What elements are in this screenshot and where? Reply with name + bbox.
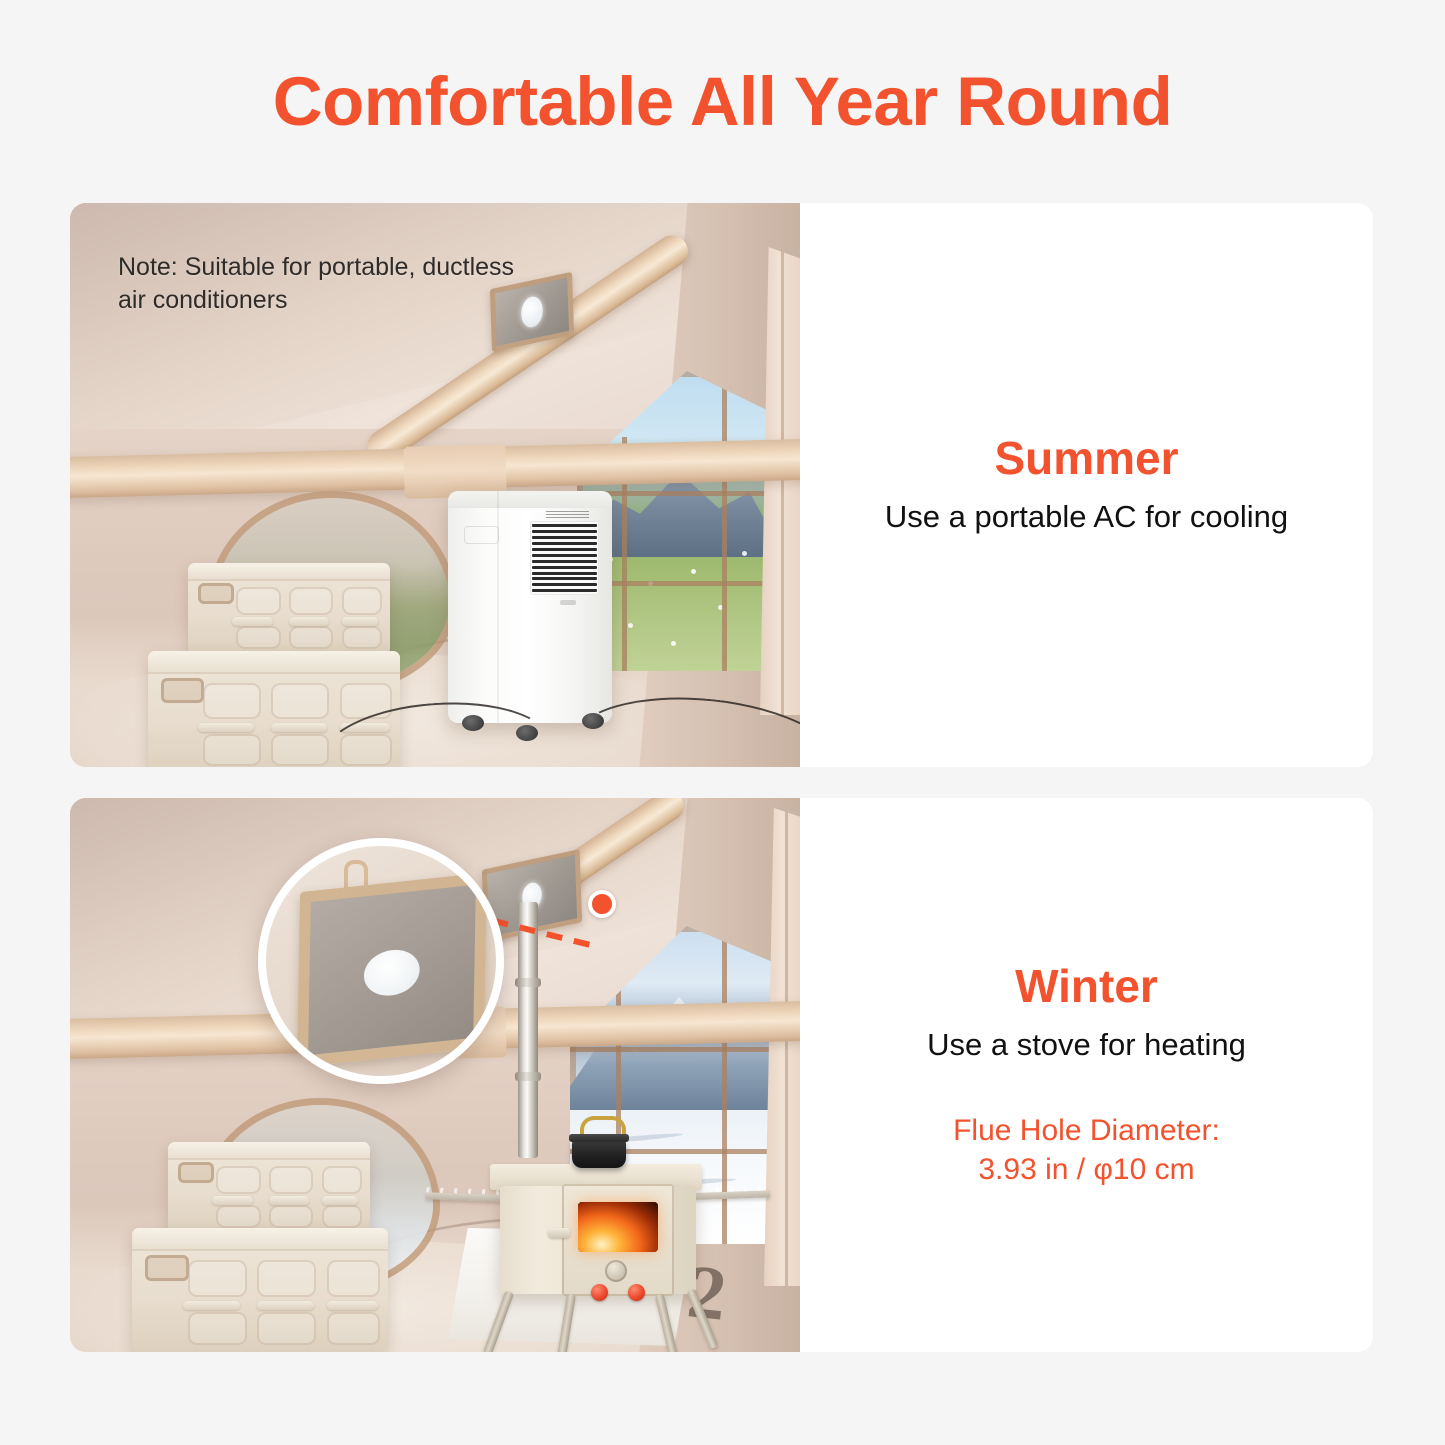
winter-copy: Winter Use a stove for heating Flue Hole… <box>800 798 1373 1352</box>
box-strap <box>269 1196 309 1205</box>
box-panel <box>203 734 261 766</box>
curtain-fold <box>785 808 788 1286</box>
box-panel <box>216 1166 260 1194</box>
box-panel <box>257 1312 316 1344</box>
stove-chimney <box>518 902 538 1158</box>
page-title: Comfortable All Year Round <box>0 0 1445 203</box>
cooking-pot <box>572 1140 626 1168</box>
box-strap <box>183 1301 239 1310</box>
box-panel <box>216 1205 260 1229</box>
stove-fire-window <box>578 1202 658 1252</box>
stove-air-dial <box>605 1260 627 1282</box>
flue-hole-magnifier <box>258 838 504 1084</box>
box-panel <box>203 683 261 720</box>
curtain-fold <box>781 247 784 715</box>
box-panel <box>269 1166 313 1194</box>
box-panel <box>289 587 333 615</box>
box-strap <box>198 723 253 732</box>
ac-logo <box>560 600 576 605</box>
box-panel <box>188 1260 247 1297</box>
winter-scene: 2 <box>70 798 800 1352</box>
meadow-flower <box>742 551 747 556</box>
summer-photo: Note: Suitable for portable, ductless ai… <box>70 203 800 767</box>
ac-label <box>546 511 589 518</box>
stove-knob-left <box>591 1284 608 1301</box>
box-lid <box>168 1142 370 1160</box>
portable-air-conditioner <box>448 491 612 723</box>
box-handle <box>145 1255 189 1281</box>
card-summer: Note: Suitable for portable, ductless ai… <box>70 203 1373 767</box>
box-panel <box>327 1260 381 1297</box>
box-panel <box>271 683 329 720</box>
summer-subtitle: Use a portable AC for cooling <box>885 498 1288 537</box>
box-strap <box>342 617 378 626</box>
summer-note-line-2: air conditioners <box>118 284 514 317</box>
box-strap <box>212 1196 252 1205</box>
storage-box-top <box>168 1142 370 1234</box>
winter-photo: 2 <box>70 798 800 1352</box>
summer-note-line-1: Note: Suitable for portable, ductless <box>118 251 514 284</box>
box-handle <box>198 583 234 604</box>
box-panel <box>236 626 280 650</box>
box-panel <box>289 626 333 650</box>
winter-subtitle: Use a stove for heating <box>927 1026 1246 1065</box>
flue-hole-closeup <box>364 947 421 999</box>
chimney-ring <box>515 1072 541 1081</box>
meadow-flower <box>628 623 633 628</box>
box-panel <box>236 587 280 615</box>
flue-hole-value: 3.93 in / φ10 cm <box>953 1150 1220 1189</box>
card-winter: 2 <box>70 798 1373 1352</box>
flue-pointer-dot <box>588 890 616 918</box>
box-panel <box>342 587 382 615</box>
box-handle <box>161 678 205 704</box>
box-strap <box>322 1196 358 1205</box>
storage-box-top <box>188 563 390 655</box>
ac-side-slot <box>464 526 499 544</box>
box-panel <box>188 1312 247 1344</box>
box-lid <box>188 563 390 581</box>
flue-hole-label: Flue Hole Diameter: <box>953 1111 1220 1150</box>
box-panel <box>257 1260 316 1297</box>
chimney-ring <box>515 978 541 987</box>
stove-knob-right <box>628 1284 645 1301</box>
box-handle <box>178 1162 214 1183</box>
pot-lid <box>569 1134 629 1142</box>
flue-hole-spec: Flue Hole Diameter: 3.93 in / φ10 cm <box>953 1111 1220 1189</box>
box-panel <box>269 1205 313 1229</box>
box-strap <box>327 1301 378 1310</box>
window-mullion <box>722 371 727 671</box>
ac-body-edge <box>497 491 499 723</box>
fire-flame <box>578 1202 658 1252</box>
summer-photo-note: Note: Suitable for portable, ductless ai… <box>118 251 514 316</box>
box-strap <box>232 617 272 626</box>
window-mullion <box>570 1047 778 1052</box>
flue-hole <box>521 294 544 329</box>
ac-vent-grille <box>530 521 599 595</box>
winter-season-title: Winter <box>1015 961 1158 1012</box>
summer-season-title: Summer <box>994 433 1178 484</box>
box-strap <box>271 723 326 732</box>
box-lid <box>132 1228 388 1251</box>
box-lid <box>148 651 400 674</box>
storage-box-bottom <box>132 1228 388 1352</box>
ac-top-panel <box>448 491 612 508</box>
flue-patch-closeup <box>297 872 487 1067</box>
box-panel <box>322 1166 362 1194</box>
box-panel <box>342 626 382 650</box>
box-panel <box>322 1205 362 1229</box>
summer-copy: Summer Use a portable AC for cooling <box>800 203 1373 767</box>
box-panel <box>327 1312 381 1344</box>
stove-door-latch <box>548 1228 570 1238</box>
box-strap <box>289 617 329 626</box>
box-strap <box>257 1301 313 1310</box>
meadow-flower <box>691 569 696 574</box>
